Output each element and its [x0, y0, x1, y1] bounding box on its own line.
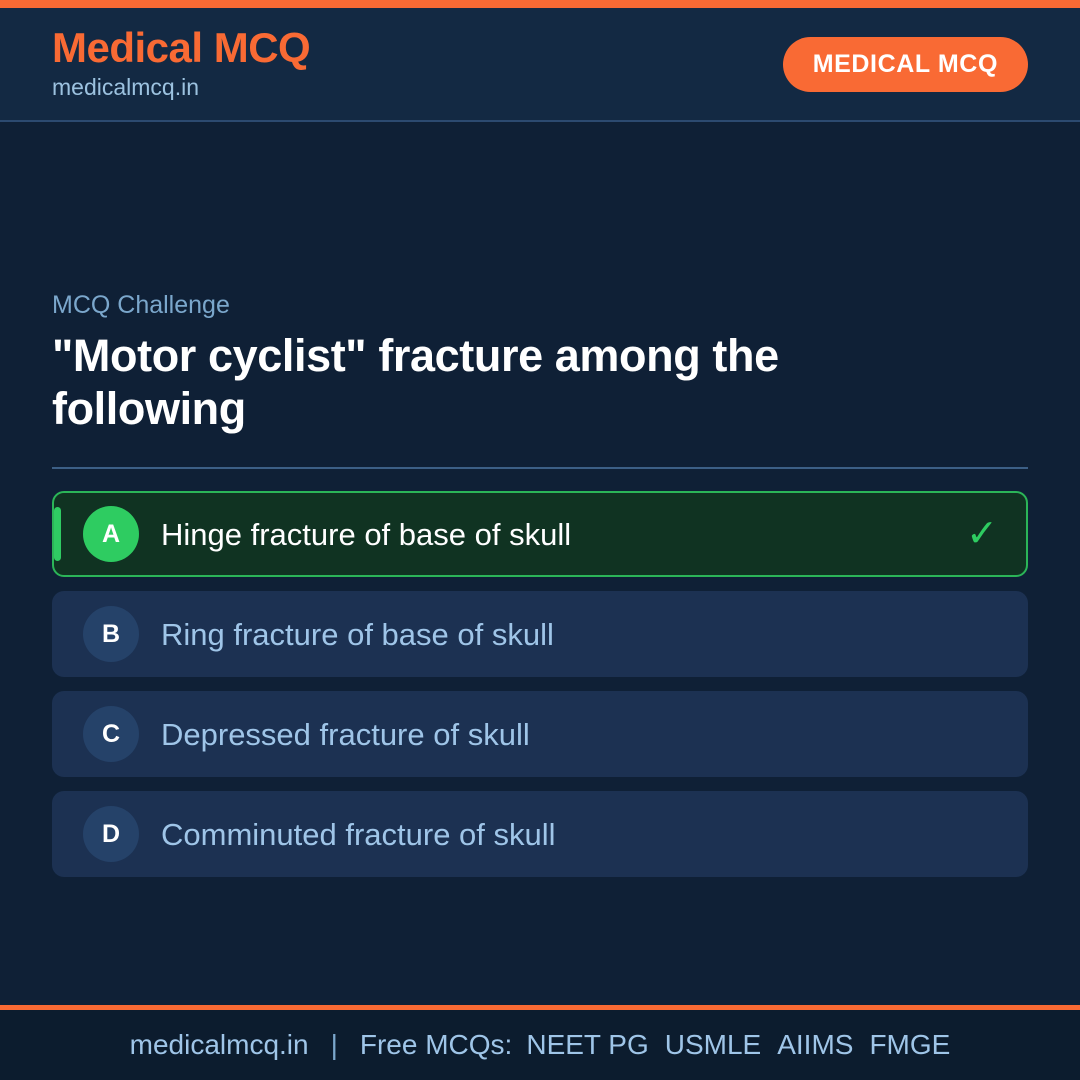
option-label: Hinge fracture of base of skull — [161, 516, 950, 553]
option-label: Comminuted fracture of skull — [161, 816, 998, 853]
main-content: MCQ Challenge "Motor cyclist" fracture a… — [0, 122, 1080, 1005]
footer-tag-neetpg: NEET PG — [526, 1029, 648, 1061]
option-letter-badge: C — [83, 706, 139, 762]
option-letter-badge: D — [83, 806, 139, 862]
top-accent-bar — [0, 0, 1080, 8]
header-badge: MEDICAL MCQ — [783, 37, 1028, 92]
question-text: "Motor cyclist" fracture among the follo… — [52, 330, 982, 435]
check-icon: ✓ — [966, 515, 998, 553]
mcq-card: Medical MCQ medicalmcq.in MEDICAL MCQ MC… — [0, 0, 1080, 1080]
question-zone: MCQ Challenge "Motor cyclist" fracture a… — [52, 122, 1028, 435]
options-list: A Hinge fracture of base of skull ✓ B Ri… — [52, 491, 1028, 877]
header: Medical MCQ medicalmcq.in MEDICAL MCQ — [0, 8, 1080, 122]
option-b[interactable]: B Ring fracture of base of skull — [52, 591, 1028, 677]
footer: medicalmcq.in | Free MCQs: NEET PG USMLE… — [0, 1005, 1080, 1080]
option-d[interactable]: D Comminuted fracture of skull — [52, 791, 1028, 877]
option-letter-badge: B — [83, 606, 139, 662]
correct-accent-bar — [54, 507, 61, 561]
brand-title: Medical MCQ — [52, 26, 310, 70]
option-label: Depressed fracture of skull — [161, 716, 998, 753]
footer-site: medicalmcq.in — [130, 1029, 309, 1061]
brand-subtitle: medicalmcq.in — [52, 73, 310, 103]
footer-tag-usmle: USMLE — [665, 1029, 761, 1061]
divider — [52, 467, 1028, 469]
option-label: Ring fracture of base of skull — [161, 616, 998, 653]
footer-tag-aiims: AIIMS — [777, 1029, 853, 1061]
footer-content: medicalmcq.in | Free MCQs: NEET PG USMLE… — [130, 1029, 951, 1061]
option-a[interactable]: A Hinge fracture of base of skull ✓ — [52, 491, 1028, 577]
option-c[interactable]: C Depressed fracture of skull — [52, 691, 1028, 777]
footer-label: Free MCQs: — [360, 1029, 512, 1061]
footer-tag-fmge: FMGE — [869, 1029, 950, 1061]
footer-separator: | — [331, 1029, 338, 1061]
brand-block: Medical MCQ medicalmcq.in — [52, 26, 310, 103]
kicker-label: MCQ Challenge — [52, 290, 1028, 320]
option-letter-badge: A — [83, 506, 139, 562]
